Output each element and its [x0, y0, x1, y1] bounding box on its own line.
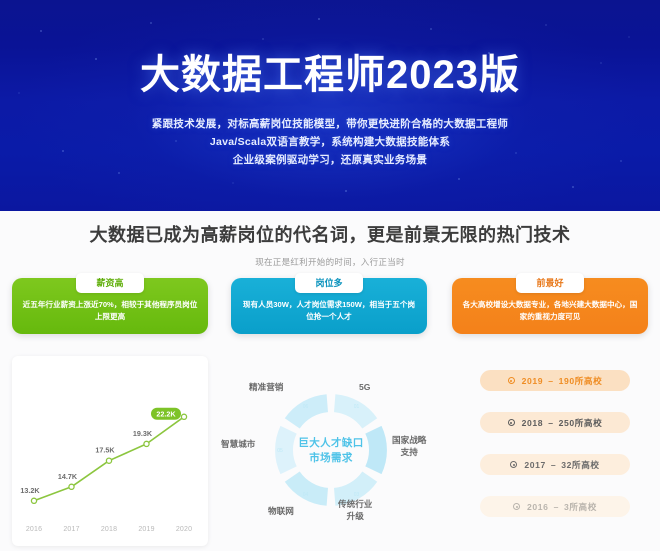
- chart-xtick-2020: 2020: [176, 526, 192, 533]
- university-count-list: 2019 – 190所高校 2018 – 250所高校 2017 – 32所高校…: [470, 356, 640, 546]
- donut-segment-01[interactable]: [334, 394, 377, 428]
- university-row-2017[interactable]: 2017 – 32所高校: [480, 454, 630, 475]
- chart-label-2019: 19.3K: [133, 429, 153, 438]
- feature-card-positions-body: 现有人员30W，人才岗位需求150W，相当于五个岗位抢一个人才: [241, 299, 417, 323]
- hero-subtitle-line-1: 紧跟技术发展，对标高薪岗位技能模型，带你更快进阶合格的大数据工程师: [0, 115, 660, 133]
- chart-xtick-2016: 2016: [26, 526, 42, 533]
- university-row-2016-count: 3所高校: [564, 501, 597, 513]
- hero-subtitle-group: 紧跟技术发展，对标高薪岗位技能模型，带你更快进阶合格的大数据工程师 Java/S…: [0, 115, 660, 169]
- chart-label-2020: 22.2K: [156, 409, 176, 418]
- chart-xtick-2017: 2017: [63, 526, 79, 533]
- chart-xtick-2018: 2018: [101, 526, 117, 533]
- feature-card-prospects[interactable]: 前景好 各大高校增设大数据专业，各地兴建大数据中心，国家的重视力度可见: [452, 278, 648, 334]
- chart-data-points: [31, 414, 186, 503]
- donut-center-text: 巨大人才缺口 市场需求: [281, 436, 381, 466]
- donut-label-national-strategy-l1: 国家战略: [392, 434, 426, 446]
- section-subtitle: 现在正是红利开始的时间，入行正当时: [0, 256, 660, 268]
- feature-card-positions[interactable]: 岗位多 现有人员30W，人才岗位需求150W，相当于五个岗位抢一个人才: [231, 278, 427, 334]
- donut-label-5g: 5G: [359, 381, 370, 393]
- feature-card-salary-body: 近五年行业薪资上涨近70%，相较于其他程序员岗位上限更高: [22, 299, 198, 323]
- university-row-2018-count: 250所高校: [559, 417, 603, 429]
- university-row-2016-sep: –: [554, 502, 559, 512]
- donut-label-iot: 物联网: [268, 505, 294, 517]
- target-icon: [508, 419, 515, 426]
- university-row-2019-count: 190所高校: [559, 375, 603, 387]
- feature-card-salary[interactable]: 薪资高 近五年行业薪资上涨近70%，相较于其他程序员岗位上限更高: [12, 278, 208, 334]
- chart-xtick-2019: 2019: [138, 526, 154, 533]
- donut-label-national-strategy-l2: 支持: [392, 446, 426, 458]
- chart-point-2019[interactable]: [144, 441, 149, 446]
- chart-label-2018: 17.5K: [95, 446, 115, 455]
- university-row-2019-year: 2019: [522, 376, 544, 386]
- talent-gap-donut: 010203040506 巨大人才缺口 市场需求 精准营销 5G 国家战略 支持…: [216, 350, 446, 551]
- salary-trend-chart-svg: 13.2K14.7K17.5K19.3K22.2K: [12, 356, 208, 546]
- target-icon: [513, 503, 520, 510]
- target-icon: [508, 377, 515, 384]
- chart-label-2016: 13.2K: [20, 486, 40, 495]
- hero-subtitle-line-2: Java/Scala双语言教学，系统构建大数据技能体系: [0, 133, 660, 151]
- university-row-2018[interactable]: 2018 – 250所高校: [480, 412, 630, 433]
- target-icon: [510, 461, 517, 468]
- chart-point-2016[interactable]: [31, 498, 36, 503]
- university-row-2019-sep: –: [548, 376, 553, 386]
- donut-segment-06[interactable]: [285, 394, 328, 428]
- donut-label-traditional-upgrade-l2: 升级: [338, 510, 372, 522]
- chart-point-2020[interactable]: [181, 414, 186, 419]
- hero-subtitle-line-3: 企业级案例驱动学习，还原真实业务场景: [0, 151, 660, 169]
- university-row-2016-year: 2016: [527, 502, 549, 512]
- salary-trend-chart: 13.2K14.7K17.5K19.3K22.2K 20162017201820…: [12, 356, 208, 546]
- feature-cards: 薪资高 近五年行业薪资上涨近70%，相较于其他程序员岗位上限更高 岗位多 现有人…: [0, 272, 660, 342]
- chart-data-labels: 13.2K14.7K17.5K19.3K22.2K: [20, 408, 181, 495]
- chart-point-2018[interactable]: [106, 458, 111, 463]
- hero-title: 大数据工程师2023版: [0, 53, 660, 97]
- university-row-2016[interactable]: 2016 – 3所高校: [480, 496, 630, 517]
- feature-card-salary-tab: 薪资高: [76, 273, 144, 293]
- donut-center-line-1: 巨大人才缺口: [281, 436, 381, 451]
- feature-card-prospects-tab: 前景好: [516, 273, 584, 293]
- feature-card-positions-tab: 岗位多: [295, 273, 363, 293]
- donut-label-traditional-upgrade: 传统行业 升级: [338, 498, 372, 522]
- donut-label-traditional-upgrade-l1: 传统行业: [338, 498, 372, 510]
- bottom-row: 13.2K14.7K17.5K19.3K22.2K 20162017201820…: [0, 350, 660, 551]
- donut-label-national-strategy: 国家战略 支持: [392, 434, 426, 458]
- university-row-2018-year: 2018: [522, 418, 544, 428]
- university-row-2017-count: 32所高校: [561, 459, 599, 471]
- chart-x-axis: 20162017201820192020: [12, 526, 208, 540]
- donut-segment-number-06: 06: [303, 404, 309, 410]
- donut-segment-04[interactable]: [285, 472, 328, 506]
- university-row-2017-sep: –: [551, 460, 556, 470]
- section-heading: 大数据已成为高薪岗位的代名词，更是前景无限的热门技术 现在正是红利开始的时间，入…: [0, 211, 660, 268]
- donut-center-line-2: 市场需求: [281, 451, 381, 466]
- university-row-2019[interactable]: 2019 – 190所高校: [480, 370, 630, 391]
- section-title: 大数据已成为高薪岗位的代名词，更是前景无限的热门技术: [0, 221, 660, 247]
- donut-label-precision-marketing: 精准营销: [249, 381, 283, 393]
- chart-point-2017[interactable]: [69, 484, 74, 489]
- university-row-2017-year: 2017: [524, 460, 546, 470]
- chart-label-2017: 14.7K: [58, 472, 78, 481]
- donut-segment-number-01: 01: [354, 404, 360, 410]
- feature-card-prospects-body: 各大高校增设大数据专业，各地兴建大数据中心，国家的重视力度可见: [462, 299, 638, 323]
- university-row-2018-sep: –: [548, 418, 553, 428]
- donut-segment-number-04: 04: [303, 492, 309, 498]
- donut-label-smart-city: 智慧城市: [221, 438, 255, 450]
- page-root: 大数据工程师2023版 紧跟技术发展，对标高薪岗位技能模型，带你更快进阶合格的大…: [0, 0, 660, 551]
- hero-banner: 大数据工程师2023版 紧跟技术发展，对标高薪岗位技能模型，带你更快进阶合格的大…: [0, 0, 660, 211]
